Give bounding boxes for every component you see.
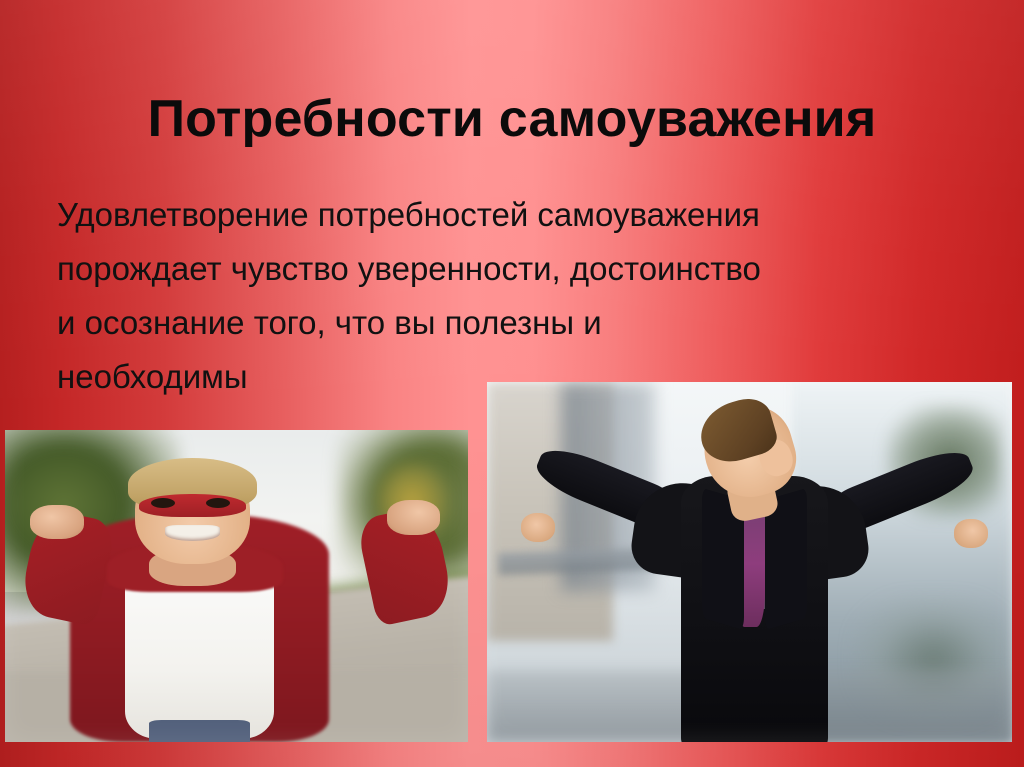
- presentation-slide: Потребности самоуважения Удовлетворение …: [0, 0, 1024, 767]
- man-arms-open-photo: [487, 382, 1012, 742]
- body-line-3: и осознание того, что вы полезны и: [57, 296, 977, 350]
- slide-body-text: Удовлетворение потребностей самоуважения…: [57, 188, 977, 404]
- boy-superhero-photo: [5, 430, 468, 742]
- boy-photo-sheen: [5, 430, 468, 742]
- body-line-1: Удовлетворение потребностей самоуважения: [57, 188, 977, 242]
- man-photo-sheen: [487, 382, 1012, 742]
- man-photo-scene: [487, 382, 1012, 742]
- boy-photo-scene: [5, 430, 468, 742]
- slide-title: Потребности самоуважения: [0, 90, 1024, 148]
- body-line-2: порождает чувство уверенности, достоинст…: [57, 242, 977, 296]
